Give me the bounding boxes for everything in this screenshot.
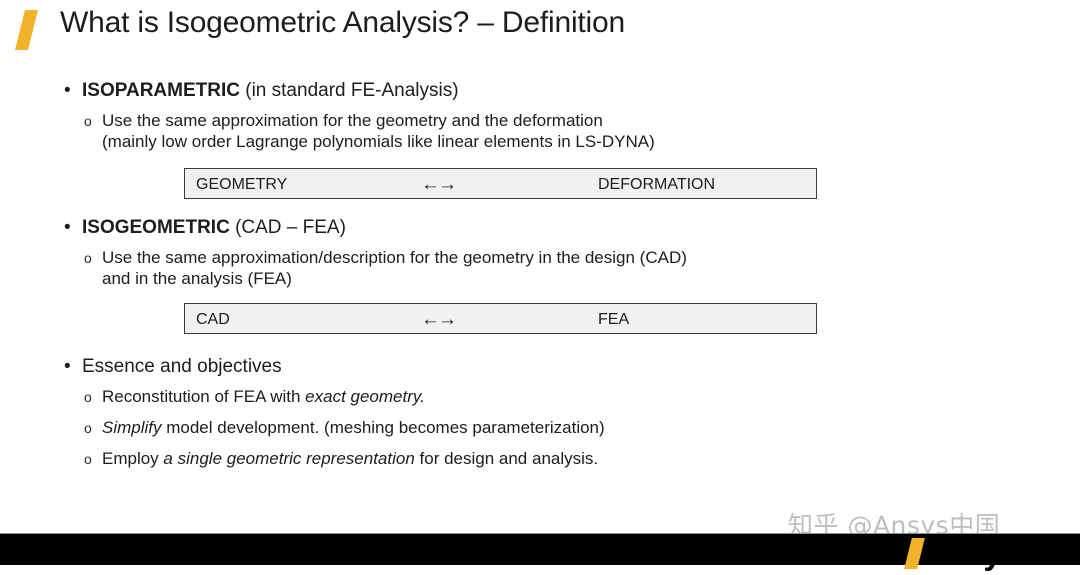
accent-slash-icon xyxy=(15,10,38,50)
sub-bullet-text: Employ a single geometric representation… xyxy=(102,448,1080,469)
bullet-heading-rest: (CAD – FEA) xyxy=(230,217,346,238)
sub-bullet-marker-icon: o xyxy=(84,386,92,408)
sub-bullet-post: for design and analysis. xyxy=(415,449,598,468)
logo-wordmark: Ansys xyxy=(924,532,1018,573)
bullet-marker-icon: • xyxy=(64,78,71,104)
sub-bullet-text: Reconstitution of FEA with exact geometr… xyxy=(102,386,1080,407)
sub-bullet-isogeometric: o Use the same approximation/description… xyxy=(0,247,1080,289)
sub-bullet-emphasis: exact geometry. xyxy=(305,387,425,406)
sub-bullet-reconstitution: o Reconstitution of FEA with exact geome… xyxy=(0,386,1080,407)
relation-box-geometry-deformation: GEOMETRY ←→ DEFORMATION xyxy=(184,168,817,199)
sub-bullet-line-2: and in the analysis (FEA) xyxy=(102,268,1080,289)
sub-bullet-marker-icon: o xyxy=(84,110,92,132)
bullet-marker-icon: • xyxy=(64,215,71,241)
sub-bullet-marker-icon: o xyxy=(84,448,92,470)
sub-bullet-text: Simplify model development. (meshing bec… xyxy=(102,417,1080,438)
bullet-marker-icon: • xyxy=(64,354,71,380)
slide-canvas: What is Isogeometric Analysis? – Definit… xyxy=(0,0,1080,575)
page-title: What is Isogeometric Analysis? – Definit… xyxy=(60,6,625,40)
sub-bullet-line-1: Use the same approximation for the geome… xyxy=(102,110,1080,131)
relation-left-label: GEOMETRY xyxy=(196,169,287,200)
ansys-logo: Ansys xyxy=(906,534,1066,575)
sub-bullet-line-1: Use the same approximation/description f… xyxy=(102,247,1080,268)
sub-bullet-employ: o Employ a single geometric representati… xyxy=(0,448,1080,469)
sub-bullet-isoparametric: o Use the same approximation for the geo… xyxy=(0,110,1080,152)
bidirectional-arrow-icon: ←→ xyxy=(421,169,455,200)
slide-body: • ISOPARAMETRIC (in standard FE-Analysis… xyxy=(0,78,1080,469)
sub-bullet-pre: Reconstitution of FEA with xyxy=(102,387,305,406)
bullet-heading-rest: (in standard FE-Analysis) xyxy=(240,80,459,101)
relation-left-label: CAD xyxy=(196,304,230,335)
bullet-essence-and-objectives: • Essence and objectives xyxy=(0,354,1080,380)
slide-title-row: What is Isogeometric Analysis? – Definit… xyxy=(0,4,1080,56)
bidirectional-arrow-icon: ←→ xyxy=(421,304,455,335)
sub-bullet-emphasis: a single geometric representation xyxy=(163,449,414,468)
sub-bullet-post: model development. (meshing becomes para… xyxy=(162,418,605,437)
relation-right-label: FEA xyxy=(598,304,629,335)
sub-bullet-simplify: o Simplify model development. (meshing b… xyxy=(0,417,1080,438)
bullet-isogeometric: • ISOGEOMETRIC (CAD – FEA) xyxy=(0,215,1080,241)
sub-bullet-line-2: (mainly low order Lagrange polynomials l… xyxy=(102,131,1080,152)
bullet-heading-rest: Essence and objectives xyxy=(82,356,282,377)
relation-box-cad-fea: CAD ←→ FEA xyxy=(184,303,817,334)
sub-bullet-marker-icon: o xyxy=(84,417,92,439)
bullet-heading-strong: ISOPARAMETRIC xyxy=(82,80,240,101)
bullet-heading-strong: ISOGEOMETRIC xyxy=(82,217,230,238)
bullet-isoparametric: • ISOPARAMETRIC (in standard FE-Analysis… xyxy=(0,78,1080,104)
relation-right-label: DEFORMATION xyxy=(598,169,715,200)
sub-bullet-marker-icon: o xyxy=(84,247,92,269)
sub-bullet-pre: Employ xyxy=(102,449,163,468)
sub-bullet-emphasis: Simplify xyxy=(102,418,162,437)
logo-slash-icon xyxy=(904,538,925,569)
